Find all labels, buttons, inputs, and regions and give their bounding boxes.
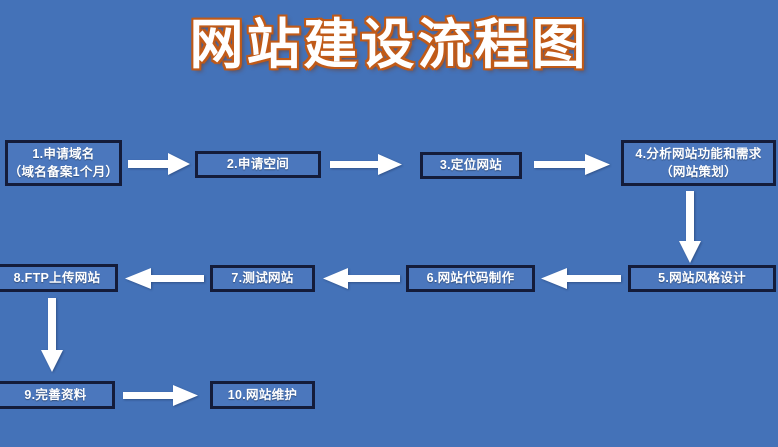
arrow-4-to-5 xyxy=(679,191,701,263)
node-7-line1: 7.测试网站 xyxy=(231,269,293,287)
node-1-line2: （域名备案1个月） xyxy=(9,163,119,181)
flowchart-node-6[interactable]: 6.网站代码制作 xyxy=(406,265,535,292)
flowchart-node-9[interactable]: 9.完善资料 xyxy=(0,381,115,409)
node-3-line1: 3.定位网站 xyxy=(440,156,502,174)
flowchart-node-2[interactable]: 2.申请空间 xyxy=(195,151,321,178)
flowchart-node-7[interactable]: 7.测试网站 xyxy=(210,265,315,292)
flowchart-node-5[interactable]: 5.网站风格设计 xyxy=(628,265,776,292)
node-10-line1: 10.网站维护 xyxy=(228,386,297,404)
arrow-7-to-8 xyxy=(125,268,204,289)
arrow-8-to-9 xyxy=(41,298,63,372)
flowchart-canvas: 网站建设流程图 1.申请域名 （域名备案1个月） 2.申请空间 3.定位网站 4… xyxy=(0,0,778,447)
arrow-5-to-6 xyxy=(541,268,621,289)
arrow-9-to-10 xyxy=(123,385,198,406)
node-4-line2: （网站策划） xyxy=(660,163,737,181)
node-9-line1: 9.完善资料 xyxy=(24,386,86,404)
arrow-1-to-2 xyxy=(128,153,190,175)
arrow-6-to-7 xyxy=(323,268,400,289)
arrow-3-to-4 xyxy=(534,154,610,175)
arrow-2-to-3 xyxy=(330,154,402,175)
node-1-line1: 1.申请域名 xyxy=(32,145,94,163)
flowchart-node-4[interactable]: 4.分析网站功能和需求 （网站策划） xyxy=(621,140,776,186)
node-6-line1: 6.网站代码制作 xyxy=(427,269,515,287)
page-title: 网站建设流程图 xyxy=(0,8,778,80)
node-5-line1: 5.网站风格设计 xyxy=(658,269,746,287)
node-2-line1: 2.申请空间 xyxy=(227,155,289,173)
node-8-line1: 8.FTP上传网站 xyxy=(14,269,101,287)
flowchart-node-8[interactable]: 8.FTP上传网站 xyxy=(0,264,118,292)
flowchart-node-10[interactable]: 10.网站维护 xyxy=(210,381,315,409)
flowchart-node-3[interactable]: 3.定位网站 xyxy=(420,152,522,179)
node-4-line1: 4.分析网站功能和需求 xyxy=(635,145,761,163)
flowchart-node-1[interactable]: 1.申请域名 （域名备案1个月） xyxy=(5,140,122,186)
